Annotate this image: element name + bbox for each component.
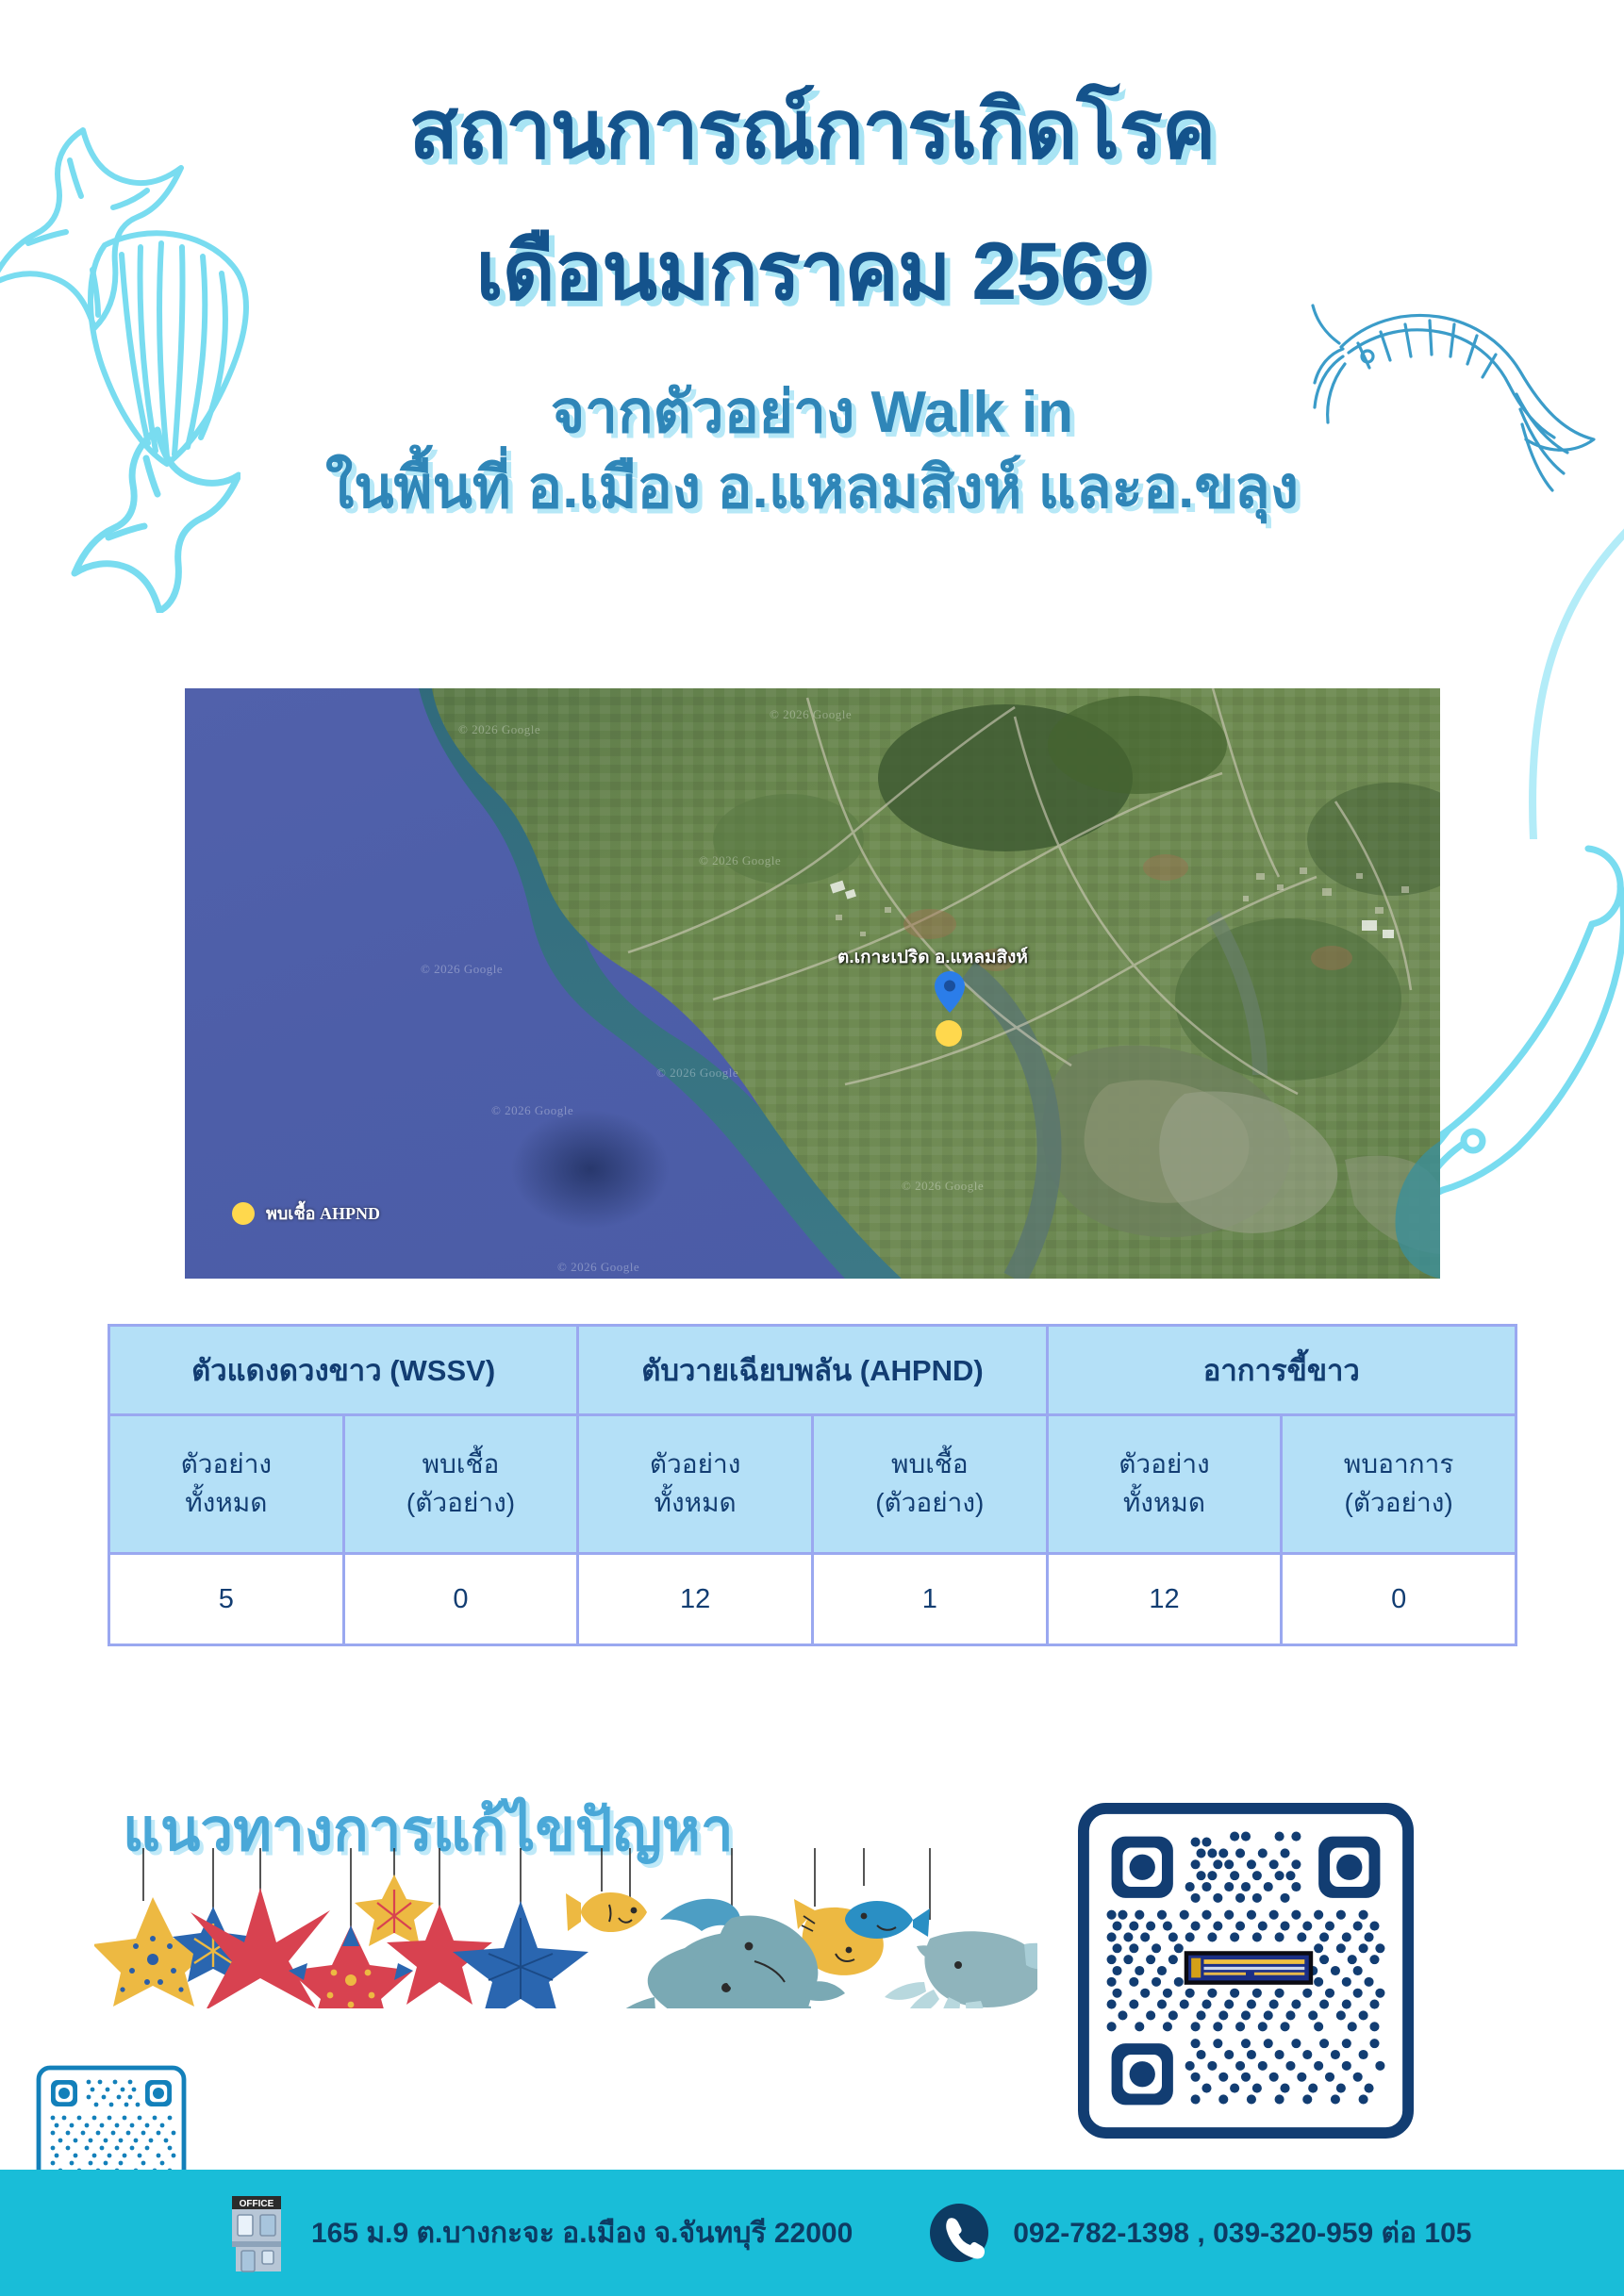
table-subheader-wssv-positive: พบเชื้อ (ตัวอย่าง) (343, 1415, 578, 1554)
qr-center-logo-icon (1185, 1951, 1313, 1985)
map-legend: พบเชื้อ AHPND (232, 1199, 380, 1227)
table-cell-ahpnd-positive: 1 (812, 1554, 1047, 1645)
footer-phone: 092-782-1398 , 039-320-959 ต่อ 105 (1013, 2211, 1471, 2255)
poster-title-line2: เดือนมกราคม 2569 (0, 231, 1624, 314)
ahpnd-case-dot-icon[interactable] (936, 1020, 962, 1047)
starfish-yellow-small-icon (355, 1875, 434, 1946)
poster-title-line2-wrap: เดือนมกราคม 2569 (0, 231, 1624, 314)
footer-content: OFFICE 165 ม.9 ต.บางกะจะ อ.เมือง จ.จันทบ… (226, 2170, 1471, 2296)
map-attribution: © 2026 Google (557, 1260, 639, 1275)
poster-subtitle-line2: ในพื้นที่ อ.เมือง อ.แหลมสิงห์ และอ.ขลุง (0, 457, 1624, 519)
map-attribution: © 2026 Google (902, 1179, 984, 1194)
legend-label-ahpnd: พบเชื้อ AHPND (266, 1199, 380, 1227)
map-pin-marker-icon[interactable] (935, 971, 965, 1013)
satellite-map[interactable]: © 2026 Google © 2026 Google © 2026 Googl… (185, 688, 1440, 1279)
subheader-line1: ตัวอย่าง (181, 1449, 273, 1478)
subheader-line2: (ตัวอย่าง) (875, 1488, 984, 1517)
poster-title-line1-wrap: สถานการณ์การเกิดโรค (0, 90, 1624, 173)
subheader-line1: พบเชื้อ (423, 1449, 500, 1478)
map-attribution: © 2026 Google (458, 722, 540, 737)
squid-blue-icon (885, 1931, 1037, 2008)
poster-title-line1: สถานการณ์การเกิดโรค (0, 90, 1624, 173)
map-place-label: ต.เกาะเปริด อ.แหลมสิงห์ (837, 943, 1028, 971)
poster-subtitle-line1-wrap: จากตัวอย่าง Walk in (0, 382, 1624, 443)
map-land-layer (185, 688, 1440, 1279)
starfish-outline-left-icon (71, 424, 240, 618)
table-subheader-ahpnd-positive: พบเชื้อ (ตัวอย่าง) (812, 1415, 1047, 1554)
subheader-line2: ทั้งหมด (185, 1488, 267, 1517)
legend-dot-ahpnd-icon (232, 1202, 255, 1225)
table-subheader-whitefeces-total: ตัวอย่าง ทั้งหมด (1047, 1415, 1282, 1554)
table-cell-whitefeces-positive: 0 (1282, 1554, 1516, 1645)
table-row-values: 5 0 12 1 12 0 (109, 1554, 1516, 1645)
fish-yellow-icon (566, 1892, 647, 1932)
fish-blue-small-icon (845, 1901, 930, 1939)
table-header-whitefeces: อาการขี้ขาว (1047, 1326, 1516, 1415)
phone-icon (930, 2204, 988, 2262)
map-attribution: © 2026 Google (421, 962, 503, 977)
subheader-line2: (ตัวอย่าง) (406, 1488, 515, 1517)
table-cell-ahpnd-total: 12 (578, 1554, 813, 1645)
subheader-line1: ตัวอย่าง (650, 1449, 741, 1478)
poster-subtitle-line1: จากตัวอย่าง Walk in (0, 382, 1624, 443)
table-header-ahpnd: ตับวายเฉียบพลัน (AHPND) (578, 1326, 1047, 1415)
footer-address: 165 ม.9 ต.บางกะจะ อ.เมือง จ.จันทบุรี 220… (311, 2211, 853, 2255)
table-subheader-ahpnd-total: ตัวอย่าง ทั้งหมด (578, 1415, 813, 1554)
poster-subtitle-line2-wrap: ในพื้นที่ อ.เมือง อ.แหลมสิงห์ และอ.ขลุง (0, 457, 1624, 519)
table-row-main-headers: ตัวแดงดวงขาว (WSSV) ตับวายเฉียบพลัน (AHP… (109, 1326, 1516, 1415)
table-cell-wssv-total: 5 (109, 1554, 344, 1645)
qr-code-main[interactable] (1078, 1803, 1414, 2139)
table-subheader-whitefeces-positive: พบอาการ (ตัวอย่าง) (1282, 1415, 1516, 1554)
map-attribution: © 2026 Google (699, 853, 781, 868)
hanging-sea-ornaments (94, 1848, 1037, 2008)
poster-root: สถานการณ์การเกิดโรค เดือนมกราคม 2569 จาก… (0, 0, 1624, 2296)
office-building-icon: OFFICE (226, 2192, 287, 2273)
table-header-wssv: ตัวแดงดวงขาว (WSSV) (109, 1326, 578, 1415)
map-attribution: © 2026 Google (770, 707, 852, 722)
office-badge-text: OFFICE (240, 2199, 274, 2209)
subheader-line1: พบอาการ (1344, 1449, 1453, 1478)
subheader-line2: (ตัวอย่าง) (1345, 1488, 1453, 1517)
table-cell-wssv-positive: 0 (343, 1554, 578, 1645)
table-cell-whitefeces-total: 12 (1047, 1554, 1282, 1645)
disease-results-table: ตัวแดงดวงขาว (WSSV) ตับวายเฉียบพลัน (AHP… (108, 1324, 1517, 1646)
subheader-line1: พบเชื้อ (891, 1449, 969, 1478)
map-attribution: © 2026 Google (491, 1103, 573, 1118)
subheader-line2: ทั้งหมด (655, 1488, 737, 1517)
map-attribution: © 2026 Google (656, 1065, 738, 1081)
footer-bar: OFFICE 165 ม.9 ต.บางกะจะ อ.เมือง จ.จันทบ… (0, 2170, 1624, 2296)
subheader-line2: ทั้งหมด (1123, 1488, 1205, 1517)
table-subheader-wssv-total: ตัวอย่าง ทั้งหมด (109, 1415, 344, 1554)
wave-curve-right-icon (1509, 528, 1624, 844)
table-row-sub-headers: ตัวอย่าง ทั้งหมด พบเชื้อ (ตัวอย่าง) ตัวอ… (109, 1415, 1516, 1554)
subheader-line1: ตัวอย่าง (1119, 1449, 1210, 1478)
